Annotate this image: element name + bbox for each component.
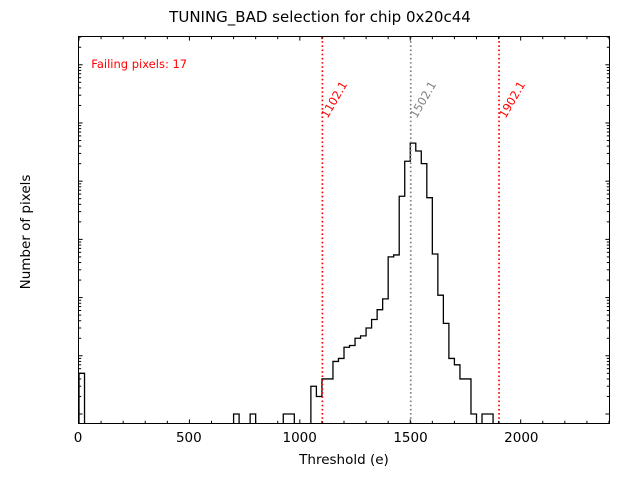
x-tick-label-1: 500 bbox=[176, 430, 202, 446]
x-tick-label-0: 0 bbox=[74, 430, 83, 446]
x-tick-label-4: 2000 bbox=[504, 430, 538, 446]
x-tick-label-2: 1000 bbox=[282, 430, 316, 446]
chart-title: TUNING_BAD selection for chip 0x20c44 bbox=[0, 8, 640, 26]
failing-pixels-annotation: Failing pixels: 17 bbox=[91, 57, 187, 71]
x-tick-label-3: 1500 bbox=[393, 430, 427, 446]
figure: TUNING_BAD selection for chip 0x20c44 05… bbox=[0, 0, 640, 480]
y-axis-label: Number of pixels bbox=[16, 142, 36, 322]
x-axis-label: Threshold (e) bbox=[78, 452, 610, 468]
